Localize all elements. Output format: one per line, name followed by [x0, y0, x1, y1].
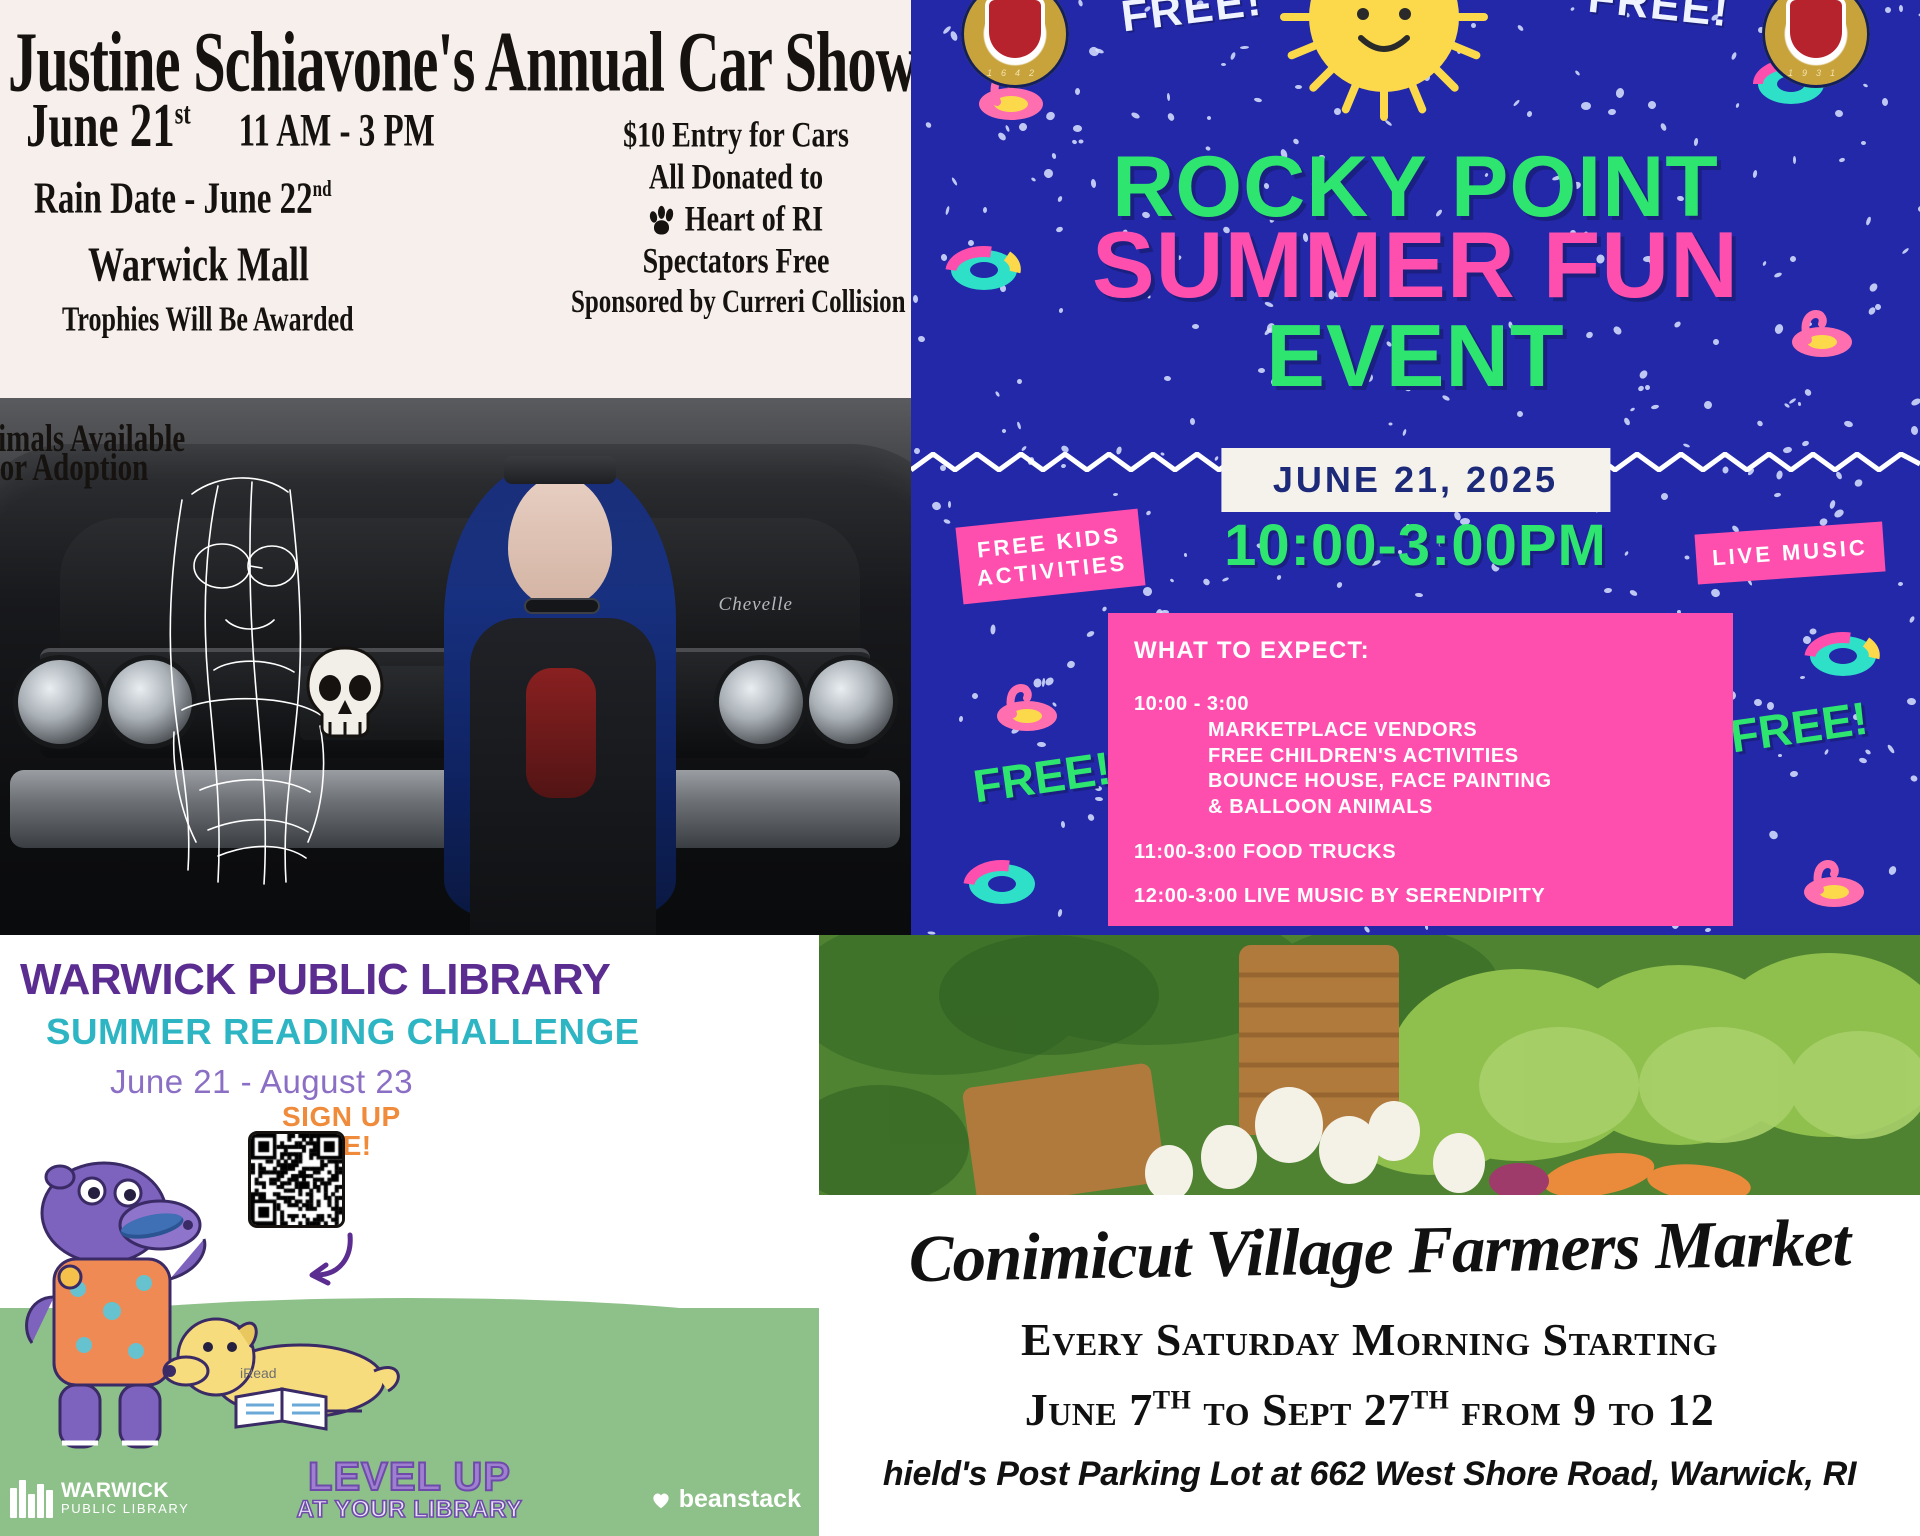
rocky-title-line2: SUMMER FUN: [911, 222, 1920, 308]
car-show-title: Justine Schiavone's Annual Car Show: [8, 28, 902, 95]
logo-name-line-1: WARWICK: [61, 1480, 189, 1502]
flyer-collage: Chevelle: [0, 0, 1920, 1536]
library-footer: WARWICK PUBLIC LIBRARY LEVEL UP AT YOUR …: [0, 1440, 819, 1536]
farmers-market-photo: [819, 935, 1920, 1195]
dog-illustration: [150, 1285, 410, 1445]
schedule-items-0: MARKETPLACE VENDORS FREE CHILDREN'S ACTI…: [1208, 718, 1707, 820]
ring-float-icon: [1804, 628, 1882, 682]
farmers-market-line2: Every Saturday Morning Starting: [819, 1313, 1920, 1366]
car-show-charity: Heart of RI: [685, 199, 823, 239]
library-heading: WARWICK PUBLIC LIBRARY: [20, 955, 610, 1005]
photo-woman-figure: [430, 438, 690, 935]
flamingo-float-icon: [1794, 856, 1872, 910]
schedule-time-2: 12:00-3:00 LIVE MUSIC BY SERENDIPITY: [1134, 885, 1707, 908]
signup-line-1: SIGN UP: [282, 1103, 401, 1132]
ring-float-icon: [963, 856, 1041, 910]
beanstack-logo: beanstack: [650, 1485, 801, 1514]
schedule-time-1: 11:00-3:00 FOOD TRUCKS: [1134, 841, 1707, 864]
schedule-item: & BALLOON ANIMALS: [1208, 795, 1707, 821]
car-show-time: 11 AM - 3 PM: [239, 113, 435, 150]
skull-illustration: [300, 644, 390, 740]
schedule-item: MARKETPLACE VENDORS: [1208, 718, 1707, 744]
panel-farmers-market[interactable]: Conimicut Village Farmers Market Every S…: [819, 935, 1920, 1536]
rocky-time: 10:00-3:00PM: [1224, 512, 1607, 579]
panel-car-show[interactable]: Chevelle: [0, 0, 911, 935]
curved-arrow-icon: [300, 1231, 356, 1287]
crest-year-right: 1931: [1762, 68, 1870, 78]
library-subheading: SUMMER READING CHALLENGE: [46, 1011, 640, 1053]
books-icon: [10, 1478, 53, 1518]
paw-print-icon: [649, 206, 675, 235]
what-to-expect-heading: WHAT TO EXPECT:: [1134, 637, 1707, 665]
car-show-sponsor: Sponsored by Curreri Collision: [571, 286, 901, 319]
flamingo-float-icon: [987, 680, 1065, 734]
car-show-adoption-note: nimals Available For Adoption: [0, 420, 185, 478]
rocky-date-box: JUNE 21, 2025: [1221, 448, 1610, 512]
rocky-date: JUNE 21, 2025: [1273, 459, 1558, 500]
city-seal-icon-left: 1642: [961, 0, 1069, 88]
schedule-time-0: 10:00 - 3:00: [1134, 693, 1707, 716]
tagline-line-2: AT YOUR LIBRARY: [297, 1496, 523, 1524]
headlight-icon: [18, 660, 102, 744]
city-seal-icon-right: 1931: [1762, 0, 1870, 88]
beanstack-label: beanstack: [679, 1485, 801, 1514]
car-show-date-suffix: st: [175, 95, 191, 130]
what-to-expect-box: WHAT TO EXPECT: 10:00 - 3:00 MARKETPLACE…: [1108, 613, 1733, 926]
iread-credit: iRead: [240, 1365, 277, 1381]
car-show-rain-suffix: nd: [313, 176, 332, 202]
sun-icon: [1279, 0, 1489, 122]
library-dates: June 21 - August 23: [110, 1063, 413, 1101]
fm-date-end-sup: TH: [1411, 1386, 1450, 1415]
schedule-item: FREE CHILDREN'S ACTIVITIES: [1208, 744, 1707, 770]
panel-library-summer-reading[interactable]: WARWICK PUBLIC LIBRARY SUMMER READING CH…: [0, 935, 819, 1536]
schedule-item: BOUNCE HOUSE, FACE PAINTING: [1208, 769, 1707, 795]
farmers-market-location: hield's Post Parking Lot at 662 West Sho…: [819, 1455, 1920, 1494]
farmers-market-title: Conimicut Village Farmers Market: [828, 1203, 1920, 1299]
panel-rocky-point[interactable]: FREE! FREE! 1642 1931 ROCKY POINT SUMMER…: [911, 0, 1920, 935]
adoption-line-2: For Adoption: [0, 449, 185, 488]
fm-hours: from 9 to 12: [1449, 1384, 1714, 1435]
headlight-icon: [719, 660, 803, 744]
fm-date-end: to Sept 27: [1191, 1384, 1410, 1435]
qr-code[interactable]: [248, 1131, 345, 1228]
car-show-details-block: $10 Entry for Cars All Donated to Heart …: [571, 118, 901, 325]
warwick-library-logo: WARWICK PUBLIC LIBRARY: [10, 1478, 189, 1518]
headlight-icon: [809, 660, 893, 744]
car-show-rain-text: Rain Date - June 22: [34, 175, 313, 224]
car-show-donation: All Donated to: [571, 160, 901, 196]
crest-year-left: 1642: [961, 68, 1069, 78]
fm-date-start-sup: TH: [1153, 1386, 1192, 1415]
car-badge-text: Chevelle: [719, 594, 793, 616]
heart-icon: [650, 1489, 672, 1511]
logo-name-line-2: PUBLIC LIBRARY: [61, 1502, 189, 1516]
car-show-entry-fee: $10 Entry for Cars: [571, 118, 901, 154]
car-show-date: June 21st: [26, 100, 191, 150]
tagline-line-1: LEVEL UP: [297, 1459, 523, 1496]
car-show-date-text: June 21: [26, 90, 175, 160]
fm-date-start: June 7: [1025, 1384, 1153, 1435]
level-up-tagline: LEVEL UP AT YOUR LIBRARY: [297, 1459, 523, 1524]
car-show-spectators: Spectators Free: [571, 244, 901, 280]
farmers-market-line3: June 7TH to Sept 27TH from 9 to 12: [819, 1383, 1920, 1436]
rocky-title-line3: EVENT: [911, 316, 1920, 397]
car-show-charity-row: Heart of RI: [571, 202, 901, 238]
